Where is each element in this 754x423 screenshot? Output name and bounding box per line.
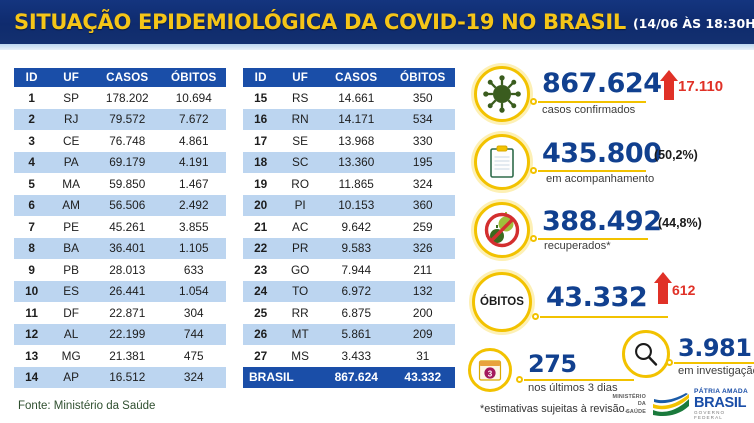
cell-casos: 14.661 (322, 87, 391, 109)
cell-uf: PI (278, 195, 322, 217)
investigating-label: em investigação (678, 365, 754, 377)
increase-arrow-shaft-icon (664, 80, 674, 100)
column-header-casos: CASOS (93, 68, 162, 87)
cell-id: 19 (243, 173, 278, 195)
monitoring-value: 435.800 (542, 138, 661, 169)
header-timestamp: (14/06 ÀS 18:30H) (633, 16, 754, 31)
ministerio-saude-logo: MINISTÉRIO DA SAÚDE (604, 394, 646, 416)
table-row: 20PI10.153360 (243, 195, 455, 217)
cell-id: 26 (243, 324, 278, 346)
table-row: 5MA59.8501.467 (14, 173, 226, 195)
recovered-value: 388.492 (542, 206, 661, 237)
cell-obitos: 4.191 (162, 152, 226, 174)
cell-obitos: 304 (162, 302, 226, 324)
clipboard-icon-ring (474, 134, 530, 190)
cell-obitos: 1.105 (162, 238, 226, 260)
table-row: 4PA69.1794.191 (14, 152, 226, 174)
cell-id: 13 (14, 345, 49, 367)
recovered-percent: (44,8%) (658, 216, 702, 230)
cell-obitos: 195 (391, 152, 455, 174)
governo-federal-logo: PÁTRIA AMADA BRASIL GOVERNO FEDERAL (652, 390, 750, 419)
confirmed-cases-value: 867.624 (542, 68, 661, 99)
stats-panel: 867.624 casos confirmados 17.110 435.800… (466, 58, 754, 423)
cell-uf: MA (49, 173, 93, 195)
clipboard-icon (488, 145, 516, 179)
cell-obitos: 10.694 (162, 87, 226, 109)
cell-casos: 13.360 (322, 152, 391, 174)
cell-obitos: 3.855 (162, 216, 226, 238)
cell-id: 9 (14, 259, 49, 281)
page-title: SITUAÇÃO EPIDEMIOLÓGICA DA COVID-19 NO B… (14, 10, 626, 34)
cell-obitos: 31 (391, 345, 455, 367)
cell-uf: MS (278, 345, 322, 367)
table-row: 17SE13.968330 (243, 130, 455, 152)
cell-uf: AL (49, 324, 93, 346)
cell-uf: CE (49, 130, 93, 152)
source-note: Fonte: Ministério da Saúde (18, 400, 155, 412)
column-header-id: ID (243, 68, 278, 87)
no-virus-icon-ring (474, 202, 530, 258)
deaths-arrow-shaft-icon (658, 282, 668, 304)
cell-casos: 59.850 (93, 173, 162, 195)
cell-id: 21 (243, 216, 278, 238)
table-row: 11DF22.871304 (14, 302, 226, 324)
cell-obitos: 534 (391, 109, 455, 131)
ministerio-line2: SAÚDE (604, 409, 646, 416)
column-header-obitos: ÓBITOS (162, 68, 226, 87)
table-row: 14AP16.512324 (14, 367, 226, 389)
cell-uf: RN (278, 109, 322, 131)
cell-obitos: 4.861 (162, 130, 226, 152)
governo-federal-text: GOVERNO FEDERAL (694, 411, 750, 421)
table-row: 1SP178.20210.694 (14, 87, 226, 109)
cell-obitos: 330 (391, 130, 455, 152)
cell-uf: GO (278, 259, 322, 281)
cell-id: 2 (14, 109, 49, 131)
table-row: 24TO6.972132 (243, 281, 455, 303)
confirmed-dot (530, 98, 537, 105)
cell-obitos: 326 (391, 238, 455, 260)
cell-uf: PR (278, 238, 322, 260)
cell-obitos: 1.467 (162, 173, 226, 195)
column-header-obitos: ÓBITOS (391, 68, 455, 87)
cell-casos: 6.972 (322, 281, 391, 303)
table-row: 10ES26.4411.054 (14, 281, 226, 303)
column-header-uf: UF (49, 68, 93, 87)
investigating-dot (666, 359, 673, 366)
cell-obitos: 7.672 (162, 109, 226, 131)
cell-uf: RS (278, 87, 322, 109)
cell-uf: PA (49, 152, 93, 174)
cell-uf: AM (49, 195, 93, 217)
table-row: 16RN14.171534 (243, 109, 455, 131)
table-row: 3CE76.7484.861 (14, 130, 226, 152)
cell-uf: RR (278, 302, 322, 324)
last-3-days-value: 275 (528, 350, 577, 378)
table-row: 27MS3.43331 (243, 345, 455, 367)
cell-casos: 28.013 (93, 259, 162, 281)
cell-casos: 7.944 (322, 259, 391, 281)
calendar-icon-ring: 3 (468, 348, 512, 392)
cell-uf: SE (278, 130, 322, 152)
cell-id: 6 (14, 195, 49, 217)
cell-obitos: 132 (391, 281, 455, 303)
cell-casos: 22.871 (93, 302, 162, 324)
recovered-dot (530, 235, 537, 242)
cell-casos: 56.506 (93, 195, 162, 217)
cell-uf: DF (49, 302, 93, 324)
last-3-days-underline (524, 379, 634, 381)
svg-text:3: 3 (488, 369, 493, 378)
table-row: 7PE45.2613.855 (14, 216, 226, 238)
cell-obitos: 360 (391, 195, 455, 217)
monitoring-underline (538, 170, 646, 172)
brasil-logo-text: PÁTRIA AMADA BRASIL GOVERNO FEDERAL (694, 389, 750, 421)
table-row: 18SC13.360195 (243, 152, 455, 174)
recovered-label: recuperados* (544, 240, 611, 252)
cell-id: 14 (14, 367, 49, 389)
brasil-flag-icon (652, 392, 690, 418)
investigating-value: 3.981 (678, 334, 751, 362)
confirmed-cases-delta: 17.110 (678, 78, 723, 95)
virus-icon-ring (474, 66, 530, 122)
cell-uf: PE (49, 216, 93, 238)
cell-casos: 5.861 (322, 324, 391, 346)
cell-uf: SP (49, 87, 93, 109)
table-row: 26MT5.861209 (243, 324, 455, 346)
table-row: 21AC9.642259 (243, 216, 455, 238)
confirmed-underline (538, 101, 646, 103)
cell-id: 27 (243, 345, 278, 367)
cell-id: 3 (14, 130, 49, 152)
magnifier-icon-ring (622, 330, 670, 378)
table-row: 25RR6.875200 (243, 302, 455, 324)
cell-id: 7 (14, 216, 49, 238)
cell-id: 23 (243, 259, 278, 281)
cell-obitos: 475 (162, 345, 226, 367)
header-divider (0, 44, 754, 50)
column-header-casos: CASOS (322, 68, 391, 87)
page-header: SITUAÇÃO EPIDEMIOLÓGICA DA COVID-19 NO B… (0, 0, 754, 44)
cell-id: 20 (243, 195, 278, 217)
cell-obitos: 2.492 (162, 195, 226, 217)
cell-obitos: 324 (391, 173, 455, 195)
last-3-days-label: nos últimos 3 dias (528, 382, 618, 394)
cell-casos: 9.583 (322, 238, 391, 260)
cell-uf: TO (278, 281, 322, 303)
table-row: 19RO11.865324 (243, 173, 455, 195)
states-table-left: ID UF CASOS ÓBITOS 1SP178.20210.6942RJ79… (14, 68, 226, 388)
states-table-right: ID UF CASOS ÓBITOS 15RS14.66135016RN14.1… (243, 68, 455, 388)
cell-uf: BA (49, 238, 93, 260)
cell-casos: 69.179 (93, 152, 162, 174)
obitos-circle: ÓBITOS (472, 272, 532, 332)
cell-uf: RJ (49, 109, 93, 131)
cell-obitos: 200 (391, 302, 455, 324)
confirmed-cases-label: casos confirmados (542, 104, 635, 116)
table-row: 2RJ79.5727.672 (14, 109, 226, 131)
cell-id: 25 (243, 302, 278, 324)
cell-id: 16 (243, 109, 278, 131)
cell-id: 5 (14, 173, 49, 195)
cell-casos: 3.433 (322, 345, 391, 367)
cell-obitos: 744 (162, 324, 226, 346)
cell-casos: 178.202 (93, 87, 162, 109)
cell-uf: AC (278, 216, 322, 238)
deaths-delta: 612 (672, 282, 695, 298)
states-table-left-body: 1SP178.20210.6942RJ79.5727.6723CE76.7484… (14, 87, 226, 388)
cell-id: 8 (14, 238, 49, 260)
cell-casos: 9.642 (322, 216, 391, 238)
cell-id: 1 (14, 87, 49, 109)
cell-casos: 6.875 (322, 302, 391, 324)
cell-id: 11 (14, 302, 49, 324)
cell-casos: 11.865 (322, 173, 391, 195)
virus-icon (483, 75, 521, 113)
deaths-value: 43.332 (546, 282, 647, 313)
cell-id: 12 (14, 324, 49, 346)
investigating-underline (674, 362, 754, 364)
total-casos: 867.624 (322, 367, 391, 388)
deaths-label: ÓBITOS (480, 296, 524, 308)
cell-casos: 79.572 (93, 109, 162, 131)
table-row: 22PR9.583326 (243, 238, 455, 260)
table-header-row: ID UF CASOS ÓBITOS (14, 68, 226, 87)
cell-casos: 14.171 (322, 109, 391, 131)
no-virus-icon (482, 210, 522, 250)
cell-id: 15 (243, 87, 278, 109)
cell-casos: 26.441 (93, 281, 162, 303)
cell-casos: 10.153 (322, 195, 391, 217)
table-row: 12AL22.199744 (14, 324, 226, 346)
cell-obitos: 324 (162, 367, 226, 389)
states-table-right-body: 15RS14.66135016RN14.17153417SE13.9683301… (243, 87, 455, 367)
cell-id: 4 (14, 152, 49, 174)
table-row: 9PB28.013633 (14, 259, 226, 281)
cell-casos: 45.261 (93, 216, 162, 238)
table-row: 23GO7.944211 (243, 259, 455, 281)
cell-obitos: 633 (162, 259, 226, 281)
magnifier-icon (633, 341, 659, 367)
cell-id: 18 (243, 152, 278, 174)
ministerio-line1: MINISTÉRIO DA (604, 394, 646, 409)
calendar-icon: 3 (478, 358, 502, 382)
monitoring-label: em acompanhamento (546, 173, 654, 185)
table-row: 13MG21.381475 (14, 345, 226, 367)
cell-casos: 22.199 (93, 324, 162, 346)
cell-uf: ES (49, 281, 93, 303)
table-row: 15RS14.661350 (243, 87, 455, 109)
cell-casos: 36.401 (93, 238, 162, 260)
cell-id: 17 (243, 130, 278, 152)
cell-casos: 76.748 (93, 130, 162, 152)
cell-uf: MT (278, 324, 322, 346)
cell-obitos: 259 (391, 216, 455, 238)
cell-uf: AP (49, 367, 93, 389)
cell-casos: 16.512 (93, 367, 162, 389)
column-header-uf: UF (278, 68, 322, 87)
total-obitos: 43.332 (391, 367, 455, 388)
cell-uf: PB (49, 259, 93, 281)
brasil-word-text: BRASIL (694, 396, 750, 411)
cell-uf: SC (278, 152, 322, 174)
cell-casos: 13.968 (322, 130, 391, 152)
deaths-underline (540, 316, 668, 318)
monitoring-percent: (50,2%) (654, 148, 698, 162)
cell-id: 22 (243, 238, 278, 260)
cell-casos: 21.381 (93, 345, 162, 367)
brasil-total-row: BRASIL 867.624 43.332 (243, 367, 455, 388)
cell-obitos: 1.054 (162, 281, 226, 303)
total-label: BRASIL (243, 367, 322, 388)
table-row: 6AM56.5062.492 (14, 195, 226, 217)
deaths-dot (532, 313, 539, 320)
monitoring-dot (530, 167, 537, 174)
cell-uf: RO (278, 173, 322, 195)
cell-obitos: 350 (391, 87, 455, 109)
cell-id: 10 (14, 281, 49, 303)
column-header-id: ID (14, 68, 49, 87)
cell-id: 24 (243, 281, 278, 303)
cell-uf: MG (49, 345, 93, 367)
cell-obitos: 209 (391, 324, 455, 346)
cell-obitos: 211 (391, 259, 455, 281)
table-header-row: ID UF CASOS ÓBITOS (243, 68, 455, 87)
last-3-days-dot (516, 376, 523, 383)
table-row: 8BA36.4011.105 (14, 238, 226, 260)
